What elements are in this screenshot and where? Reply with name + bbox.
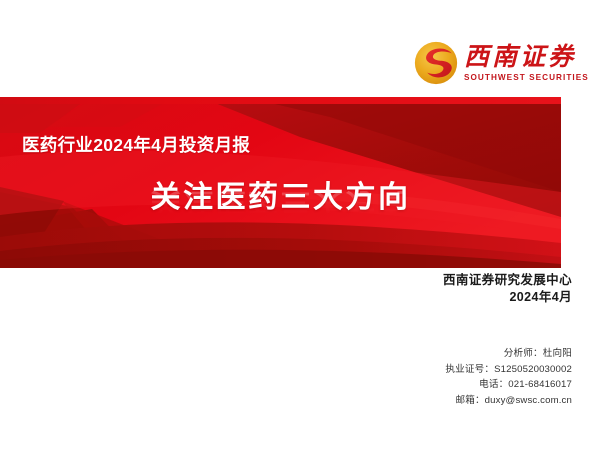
report-main-title-reflection: 关注医药三大方向 bbox=[0, 189, 561, 215]
logo-wordmark: 西南证券 SOUTHWEST SECURITIES bbox=[464, 44, 589, 82]
analyst-email-line: 邮箱：duxy@swsc.com.cn bbox=[445, 393, 572, 409]
report-subtitle: 医药行业2024年4月投资月报 bbox=[22, 132, 250, 157]
analyst-name-line: 分析师：杜向阳 bbox=[445, 346, 572, 362]
publisher-block: 西南证券研究发展中心 2024年4月 bbox=[443, 272, 572, 306]
publisher-institution: 西南证券研究发展中心 bbox=[443, 272, 572, 289]
company-logo: 西南证券 SOUTHWEST SECURITIES bbox=[414, 38, 586, 88]
analyst-license-line: 执业证号：S1250520030002 bbox=[445, 362, 572, 378]
report-main-title-group: 关注医药三大方向 关注医药三大方向 bbox=[0, 183, 561, 244]
banner-top-strip bbox=[0, 97, 561, 104]
analyst-phone-line: 电话：021-68416017 bbox=[445, 377, 572, 393]
analyst-contact-block: 分析师：杜向阳 执业证号：S1250520030002 电话：021-68416… bbox=[445, 346, 572, 408]
logo-chinese-name: 西南证券 bbox=[464, 44, 589, 70]
report-cover-slide: 西南证券 SOUTHWEST SECURITIES bbox=[0, 0, 600, 450]
southwest-securities-emblem-icon bbox=[414, 41, 458, 85]
publisher-date: 2024年4月 bbox=[443, 289, 572, 306]
logo-english-name: SOUTHWEST SECURITIES bbox=[464, 73, 589, 82]
